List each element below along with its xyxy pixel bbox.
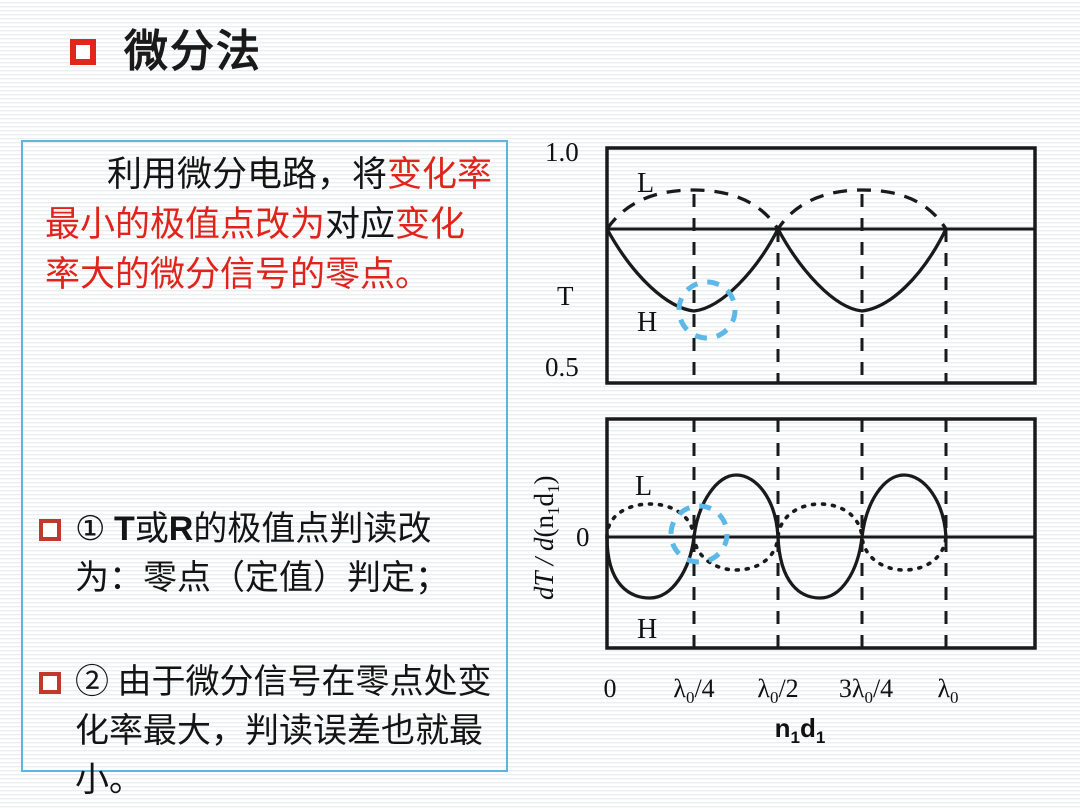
derivative-xtick-0: 0 [604, 674, 617, 703]
transmittance-ytick-top: 1.0 [545, 137, 579, 167]
charts-area: L H 1.0 T 0.5 L H [0, 0, 1080, 810]
derivative-ytick-zero: 0 [576, 522, 590, 552]
transmittance-plot-frame [607, 148, 1035, 383]
derivative-label-L: L [635, 471, 652, 502]
derivative-xtick-three-quarter: 3λ0/4 [839, 674, 893, 707]
derivative-ylabel: dT / d(n1d1) [529, 475, 563, 600]
derivative-xtick-quarter: λ0/4 [673, 674, 714, 707]
slide-root: 微分法 利用微分电路，将变化率最小的极值点改为对应变化率大的微分信号的零点。 ①… [0, 0, 1080, 810]
svg-text:dT / d(n1d1): dT / d(n1d1) [529, 475, 563, 600]
transmittance-label-H: H [637, 307, 657, 338]
transmittance-label-L: L [637, 168, 654, 199]
derivative-label-H: H [637, 614, 657, 645]
derivative-plot: L H 0 dT / d(n1d1) 0 λ0/4 λ0/2 [529, 419, 1035, 747]
derivative-xlabel: n1d1 [775, 713, 826, 747]
derivative-xtick-half: λ0/2 [757, 674, 798, 707]
transmittance-ylabel: T [557, 281, 574, 311]
transmittance-plot: L H 1.0 T 0.5 [545, 137, 1035, 383]
transmittance-ytick-bottom: 0.5 [545, 352, 579, 382]
derivative-xtick-lambda: λ0 [937, 674, 958, 707]
transmittance-curve-L [607, 190, 946, 229]
